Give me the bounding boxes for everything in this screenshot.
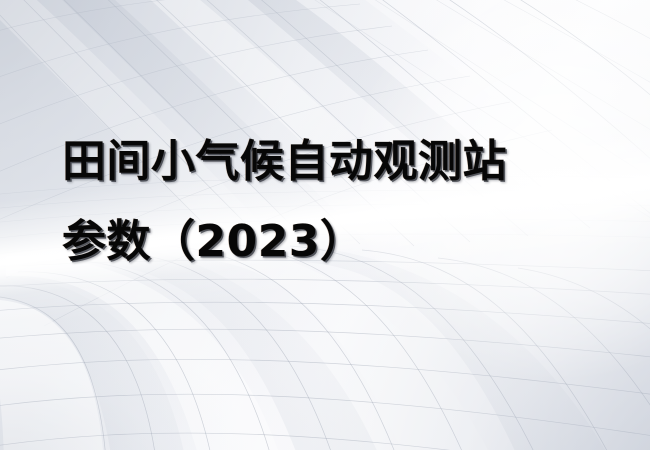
mesh-lines-lower-horizontal bbox=[0, 260, 650, 450]
slide-title: 田间小气候自动观测站 参数（2023） bbox=[62, 122, 622, 282]
title-line-1: 田间小气候自动观测站 bbox=[62, 122, 622, 202]
slide-canvas: 田间小气候自动观测站 参数（2023） bbox=[0, 0, 650, 450]
title-line-2: 参数（2023） bbox=[62, 202, 622, 282]
